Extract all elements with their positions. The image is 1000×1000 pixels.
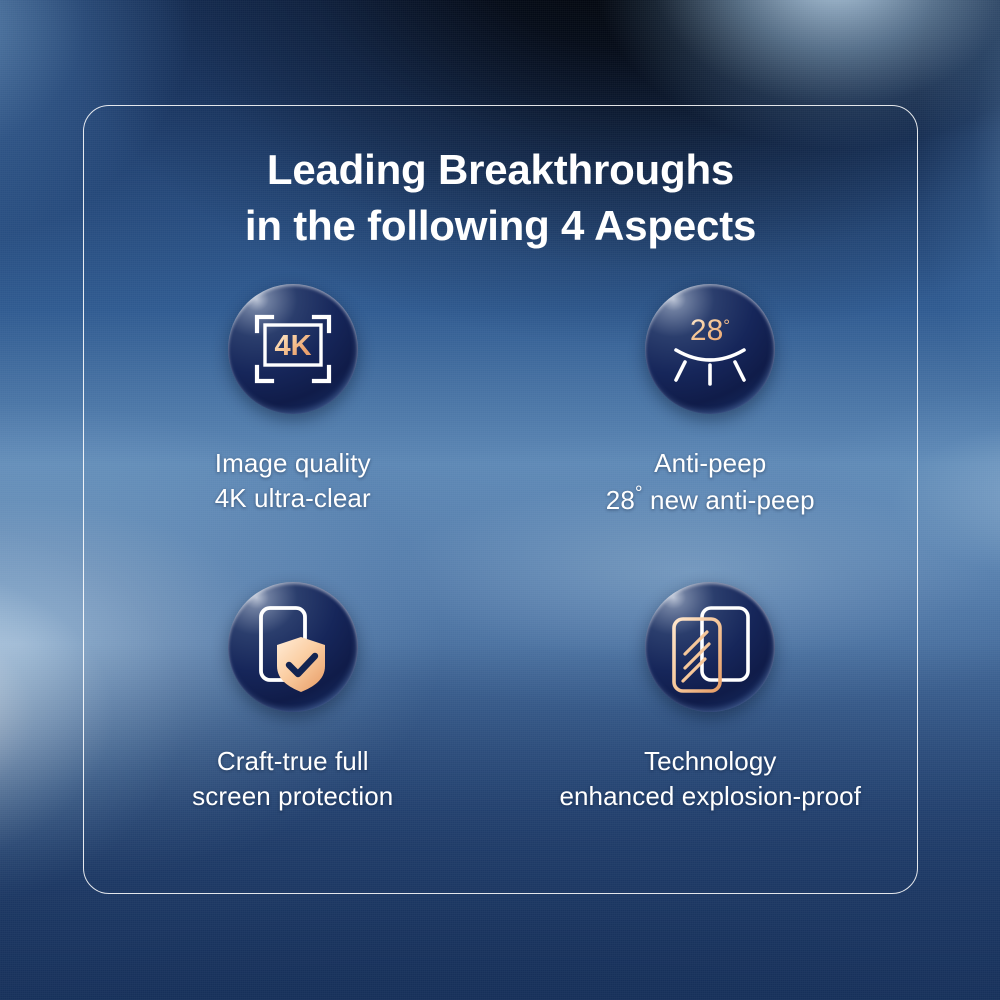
feature-caption-2-degree: ° [635,483,643,504]
shield-shape [277,637,325,692]
feature-icon-badge-1: 4K [228,284,358,414]
degree-symbol: ° [724,316,731,335]
feature-caption-2-value: 28 [606,485,635,515]
feature-caption-3: Craft-true full screen protection [192,744,393,813]
feature-item-explosion-proof: Technology enhanced explosion-proof [502,582,920,880]
page-title: Leading Breakthroughs in the following 4… [84,142,917,254]
feature-caption-1-line-2: 4K ultra-clear [215,481,371,516]
feature-caption-1-line-1: Image quality [215,446,371,481]
feature-grid: 4K Image quality 4K ultra-clear [84,284,919,880]
feature-item-screen-protection: Craft-true full screen protection [84,582,502,880]
phone-shield-check-icon [228,582,358,712]
feature-icon-badge-3 [228,582,358,712]
feature-caption-2: Anti-peep 28° new anti-peep [606,446,815,517]
feature-icon-badge-2: 28° [645,284,775,414]
feature-card-frame: Leading Breakthroughs in the following 4… [83,105,918,894]
feature-caption-2-rest: new anti-peep [643,485,815,515]
feature-item-anti-peep: 28° Anti-peep 28° new anti-p [502,284,920,582]
feature-caption-1: Image quality 4K ultra-clear [215,446,371,515]
4k-frame-icon: 4K [228,284,358,414]
feature-caption-2-line-2: 28° new anti-peep [606,481,815,518]
glass-shine-lines [683,632,709,681]
page-title-line-1: Leading Breakthroughs [84,142,917,198]
4k-label: 4K [274,330,311,362]
svg-text:28°: 28° [690,314,730,347]
feature-icon-badge-4 [645,582,775,712]
feature-caption-4: Technology enhanced explosion-proof [559,744,861,813]
feature-caption-2-line-1: Anti-peep [606,446,815,481]
double-glass-panel-icon [645,582,775,712]
anti-peep-angle-icon: 28° [645,284,775,414]
promo-poster: Leading Breakthroughs in the following 4… [0,0,1000,1000]
page-title-line-2: in the following 4 Aspects [84,198,917,254]
feature-caption-4-line-2: enhanced explosion-proof [559,779,861,814]
feature-item-image-quality: 4K Image quality 4K ultra-clear [84,284,502,582]
feature-caption-3-line-2: screen protection [192,779,393,814]
angle-value-label: 28 [690,314,723,347]
feature-caption-4-line-1: Technology [559,744,861,779]
feature-caption-3-line-1: Craft-true full [192,744,393,779]
